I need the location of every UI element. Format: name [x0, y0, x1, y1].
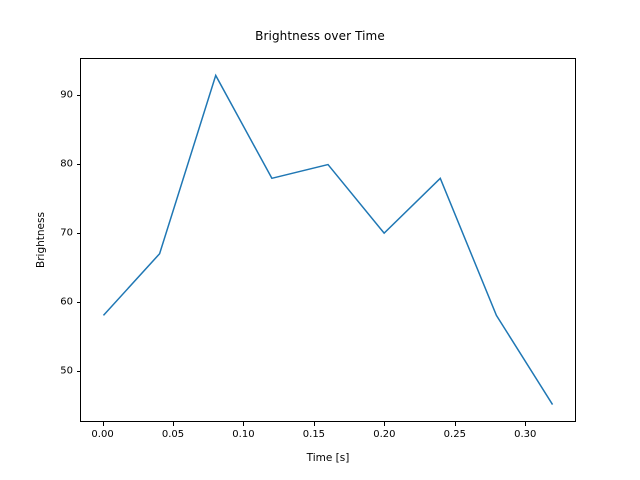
chart-figure: Brightness over Time Brightness Time [s]… — [0, 0, 640, 480]
line-series-svg — [81, 59, 575, 421]
y-tick-label: 90 — [40, 90, 73, 101]
x-tick-mark — [103, 422, 104, 426]
y-tick-label: 60 — [40, 297, 73, 308]
x-tick-mark — [384, 422, 385, 426]
y-tick-label: 70 — [40, 228, 73, 239]
y-tick-label: 80 — [40, 159, 73, 170]
x-tick-label: 0.30 — [514, 429, 536, 440]
brightness-line — [103, 75, 552, 404]
plot-area — [80, 58, 576, 422]
x-tick-label: 0.05 — [162, 429, 184, 440]
x-tick-label: 0.15 — [303, 429, 325, 440]
x-tick-label: 0.00 — [91, 429, 113, 440]
chart-title: Brightness over Time — [0, 29, 640, 43]
x-tick-mark — [314, 422, 315, 426]
y-axis-label: Brightness — [35, 212, 47, 268]
x-tick-mark — [173, 422, 174, 426]
x-tick-mark — [243, 422, 244, 426]
x-tick-label: 0.20 — [373, 429, 395, 440]
x-tick-label: 0.10 — [232, 429, 254, 440]
x-axis-label: Time [s] — [80, 452, 576, 464]
x-tick-mark — [455, 422, 456, 426]
x-tick-mark — [525, 422, 526, 426]
y-tick-label: 50 — [40, 365, 73, 376]
x-tick-label: 0.25 — [444, 429, 466, 440]
